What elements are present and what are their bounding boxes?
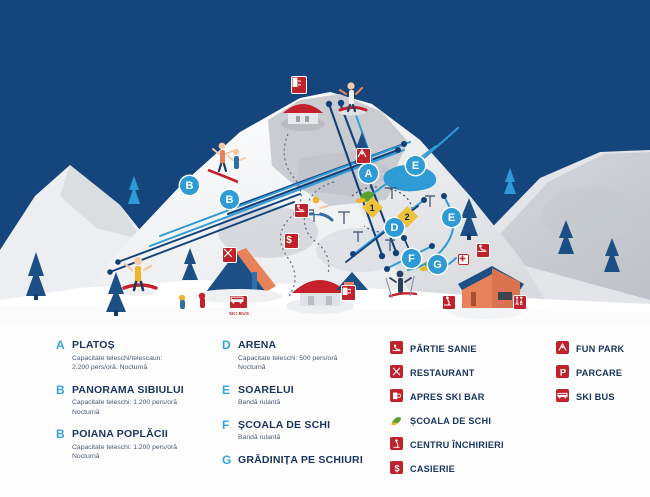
legend-lift-letter: F bbox=[222, 418, 229, 432]
legend-lift-desc-line: Nocturnă bbox=[238, 363, 382, 373]
legend-lift-letter: G bbox=[222, 453, 231, 467]
legend-lift-gradinita-pe-schiuri[interactable]: G GRĂDINIȚA PE SCHIURI bbox=[222, 454, 382, 466]
legend-panel: A PLATOȘ Capacitate teleschi/telescaun: … bbox=[0, 325, 650, 497]
legend-lift-desc-line: Nocturnă bbox=[72, 452, 216, 462]
cutlery-icon bbox=[390, 365, 403, 378]
legend-lift-name: GRĂDINIȚA PE SCHIURI bbox=[238, 454, 382, 466]
legend-lift-name: PLATOȘ bbox=[72, 339, 216, 351]
legend-amenity-label: PARCARE bbox=[576, 368, 622, 378]
marker-number-2-label: 2 bbox=[405, 211, 410, 221]
cash-icon: $ bbox=[390, 461, 403, 474]
legend-column-lifts-1: A PLATOȘ Capacitate teleschi/telescaun: … bbox=[56, 339, 216, 473]
map-sign-sledge-icon-right[interactable] bbox=[476, 243, 490, 258]
legend-amenity-centru-inchirieri[interactable]: CENTRU ÎNCHIRIERI bbox=[390, 435, 550, 456]
legend-amenity-label: CENTRU ÎNCHIRIERI bbox=[410, 440, 504, 450]
legend-lift-scoala-de-schi[interactable]: F ȘCOALA DE SCHI Bandă rulantă bbox=[222, 419, 382, 443]
legend-lift-poiana-poplacii[interactable]: B POIANA POPLĂCII Capacitate teleschi: 1… bbox=[56, 428, 216, 462]
legend-amenity-partie-sanie[interactable]: PÂRTIE SANIE bbox=[390, 339, 550, 360]
legend-lift-desc-line: 2.200 pers/oră. Nocturnă bbox=[72, 363, 216, 373]
map-sign-first-aid-icon[interactable] bbox=[458, 254, 469, 265]
legend-amenity-label: ȘCOALA DE SCHI bbox=[410, 416, 491, 426]
legend-lift-letter: B bbox=[56, 383, 65, 397]
map-marker-B-1[interactable]: B bbox=[180, 176, 199, 195]
legend-amenity-fun-park[interactable]: FUN PARK bbox=[556, 339, 650, 360]
legend-lift-desc-line: Capacitate teleschi: 500 pers/oră bbox=[238, 354, 382, 364]
map-sign-beer-mug-icon-summit[interactable] bbox=[291, 76, 307, 94]
legend-amenity-label: FUN PARK bbox=[576, 344, 624, 354]
legend-lift-panorama-sibiului[interactable]: B PANORAMA SIBIULUI Capacitate teleschi:… bbox=[56, 384, 216, 418]
legend-amenity-label: SKI BUS bbox=[576, 392, 615, 402]
map-marker-A[interactable]: A bbox=[359, 164, 378, 183]
resort-map[interactable]: B B A E E D F G 1 2 $ bbox=[0, 0, 650, 325]
sledge-icon bbox=[390, 341, 403, 354]
legend-lift-arena[interactable]: D ARENA Capacitate teleschi: 500 pers/or… bbox=[222, 339, 382, 373]
legend-lift-name: SOARELUI bbox=[238, 384, 382, 396]
legend-lift-desc-line: Capacitate teleschi: 1.200 pers/oră bbox=[72, 398, 216, 408]
map-sign-fun-park-icon[interactable] bbox=[356, 148, 371, 164]
legend-amenity-casierie[interactable]: $ CASIERIE bbox=[390, 459, 550, 480]
legend-lift-desc-line: Bandă rulantă bbox=[238, 433, 382, 443]
legend-lift-desc: Bandă rulantă bbox=[238, 433, 382, 443]
map-illustration bbox=[0, 0, 650, 325]
ski-resort-map-page: B B A E E D F G 1 2 $ bbox=[0, 0, 650, 497]
map-sign-bus-icon[interactable] bbox=[229, 295, 248, 309]
legend-amenity-scoala-de-schi[interactable]: ȘCOALA DE SCHI bbox=[390, 411, 550, 432]
legend-lift-platos[interactable]: A PLATOȘ Capacitate teleschi/telescaun: … bbox=[56, 339, 216, 373]
map-sign-sledge-icon-mid[interactable] bbox=[294, 203, 309, 218]
map-sign-cash-icon[interactable]: $ bbox=[284, 233, 299, 249]
beer-mug-icon bbox=[390, 389, 403, 402]
parking-icon: P bbox=[556, 365, 569, 378]
legend-lift-desc: Capacitate teleschi: 1.200 pers/oră Noct… bbox=[72, 398, 216, 417]
legend-amenity-label: APRES SKI BAR bbox=[410, 392, 485, 402]
legend-lift-letter: E bbox=[222, 383, 230, 397]
legend-column-amenities-2: FUN PARK P PARCARE SKI BUS bbox=[556, 339, 650, 411]
ski-school-icon bbox=[390, 413, 403, 426]
legend-lift-name: POIANA POPLĂCII bbox=[72, 428, 216, 440]
legend-amenity-label: PÂRTIE SANIE bbox=[410, 344, 477, 354]
legend-lift-desc: Bandă rulantă bbox=[238, 398, 382, 408]
map-sign-cutlery-icon[interactable] bbox=[222, 247, 237, 263]
legend-lift-desc-line: Capacitate teleschi/telescaun: bbox=[72, 354, 216, 364]
legend-lift-name: PANORAMA SIBIULUI bbox=[72, 384, 216, 396]
map-marker-B-2[interactable]: B bbox=[220, 190, 239, 209]
map-sign-beer-mug-icon-base[interactable] bbox=[341, 285, 356, 301]
map-sign-wc-icon[interactable] bbox=[513, 295, 527, 310]
svg-text:$: $ bbox=[286, 235, 292, 245]
legend-lift-desc-line: Capacitate teleschi: 1.200 pers/oră bbox=[72, 443, 216, 453]
legend-lift-name: ARENA bbox=[238, 339, 382, 351]
legend-lift-letter: B bbox=[56, 427, 65, 441]
legend-amenity-label: CASIERIE bbox=[410, 464, 455, 474]
bus-icon bbox=[556, 389, 569, 402]
fun-park-icon bbox=[556, 341, 569, 354]
legend-column-amenities-1: PÂRTIE SANIE RESTAURANT APRES SKI BAR ȘC… bbox=[390, 339, 550, 483]
legend-lift-desc-line: Bandă rulantă bbox=[238, 398, 382, 408]
legend-column-lifts-2: D ARENA Capacitate teleschi: 500 pers/or… bbox=[222, 339, 382, 477]
legend-amenity-ski-bus[interactable]: SKI BUS bbox=[556, 387, 650, 408]
legend-amenity-apres-ski-bar[interactable]: APRES SKI BAR bbox=[390, 387, 550, 408]
map-marker-F[interactable]: F bbox=[402, 249, 421, 268]
map-marker-E-2[interactable]: E bbox=[442, 208, 461, 227]
map-sign-ski-rental-icon[interactable] bbox=[442, 295, 456, 310]
ski-rental-icon bbox=[390, 437, 403, 450]
marker-number-1-label: 1 bbox=[370, 202, 375, 212]
map-marker-E-1[interactable]: E bbox=[406, 156, 425, 175]
legend-amenity-label: RESTAURANT bbox=[410, 368, 475, 378]
svg-text:P: P bbox=[559, 367, 565, 377]
legend-amenity-restaurant[interactable]: RESTAURANT bbox=[390, 363, 550, 384]
legend-amenity-parcare[interactable]: P PARCARE bbox=[556, 363, 650, 384]
legend-lift-desc: Capacitate teleschi: 1.200 pers/oră Noct… bbox=[72, 443, 216, 462]
legend-lift-name: ȘCOALA DE SCHI bbox=[238, 419, 382, 431]
legend-lift-desc: Capacitate teleschi: 500 pers/oră Noctur… bbox=[238, 354, 382, 373]
legend-lift-letter: D bbox=[222, 338, 231, 352]
map-marker-G[interactable]: G bbox=[428, 255, 447, 274]
legend-lift-desc: Capacitate teleschi/telescaun: 2.200 per… bbox=[72, 354, 216, 373]
map-ski-bus-caption: SKI BUS bbox=[224, 311, 254, 316]
legend-lift-desc-line: Nocturnă bbox=[72, 408, 216, 418]
legend-lift-letter: A bbox=[56, 338, 65, 352]
legend-lift-soarelui[interactable]: E SOARELUI Bandă rulantă bbox=[222, 384, 382, 408]
svg-text:$: $ bbox=[394, 463, 399, 472]
